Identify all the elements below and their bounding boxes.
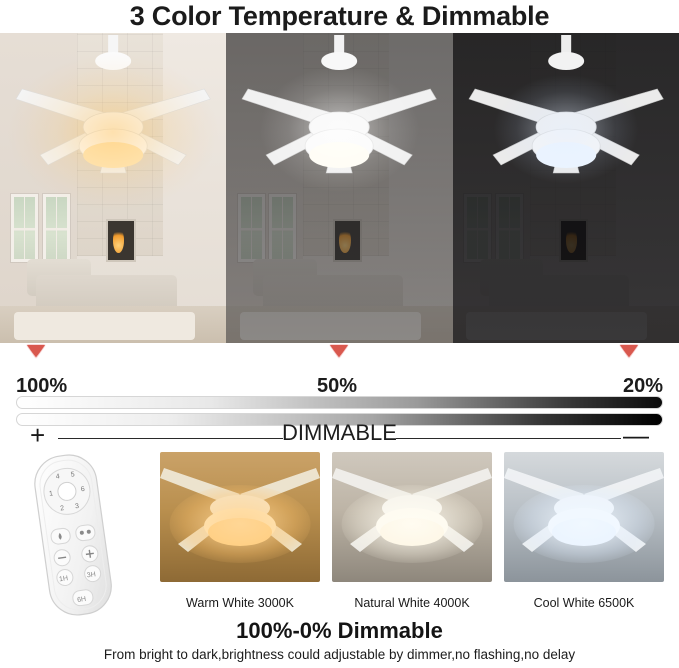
level-label-50: 50%	[317, 375, 357, 398]
brightness-gradient-bar-top	[16, 396, 663, 409]
room-comparison-strip	[0, 33, 679, 343]
caption-cool-white: Cool White 6500K	[504, 596, 664, 616]
natural-white-card	[332, 452, 492, 582]
divider-right	[396, 438, 621, 439]
dimmer-markers	[0, 343, 679, 363]
natural-light-glow	[226, 33, 452, 343]
product-infographic: 3 Color Temperature & Dimmable	[0, 0, 679, 668]
footer-subtitle: From bright to dark,brightness could adj…	[0, 647, 679, 662]
light-glow	[342, 485, 483, 563]
warm-room-panel	[0, 33, 226, 343]
dimmable-label: DIMMABLE	[0, 420, 679, 446]
remote-control: 4 5 1 6 2 3 1H 3H	[18, 448, 148, 623]
natural-room-panel	[226, 33, 452, 343]
svg-text:3H: 3H	[86, 571, 96, 579]
warm-light-tint	[0, 33, 226, 343]
light-temperature-captions: Warm White 3000K Natural White 4000K Coo…	[160, 596, 665, 616]
svg-text:6H: 6H	[77, 596, 87, 604]
minus-icon: —	[623, 420, 649, 451]
dimmer-marker-100	[27, 345, 45, 358]
cool-room-panel	[453, 33, 679, 343]
cool-light-glow	[453, 33, 679, 343]
level-label-20: 20%	[623, 375, 663, 398]
light-temperature-cards	[160, 452, 665, 597]
footer-title: 100%-0% Dimmable	[0, 618, 679, 644]
light-glow	[514, 485, 655, 563]
dimmer-marker-50	[330, 345, 348, 358]
svg-text:1H: 1H	[59, 575, 69, 583]
dimmer-marker-20	[620, 345, 638, 358]
page-title: 3 Color Temperature & Dimmable	[0, 0, 679, 33]
caption-natural-white: Natural White 4000K	[332, 596, 492, 616]
dimmable-caption-row: + DIMMABLE —	[0, 418, 679, 452]
warm-white-card	[160, 452, 320, 582]
cool-white-card	[504, 452, 664, 582]
level-label-100: 100%	[16, 375, 67, 398]
light-glow	[170, 485, 311, 563]
caption-warm-white: Warm White 3000K	[160, 596, 320, 616]
